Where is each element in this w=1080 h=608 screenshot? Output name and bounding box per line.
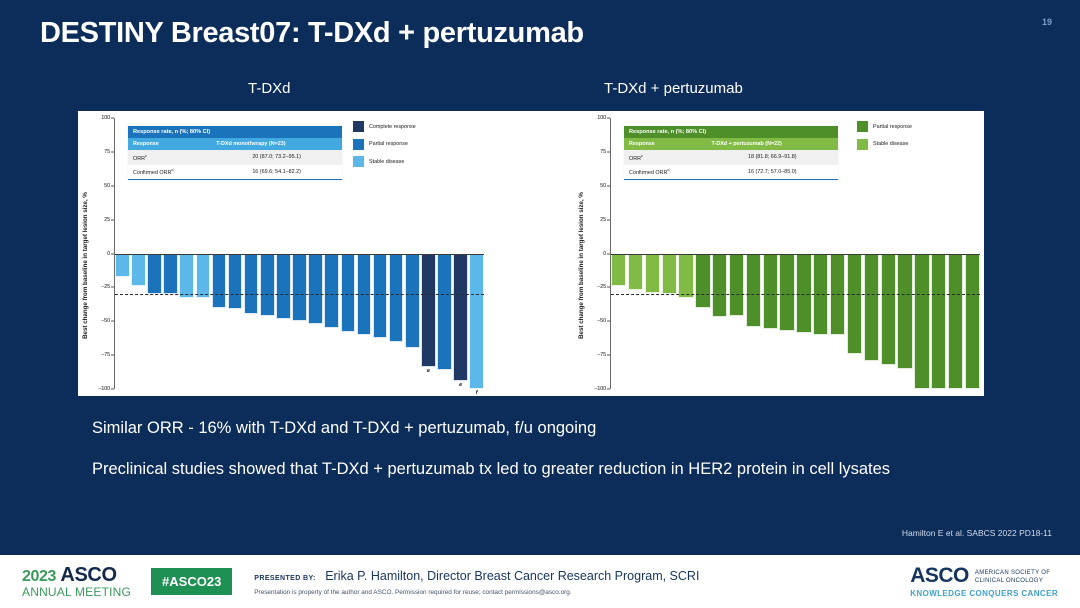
waterfall-bar xyxy=(729,254,744,316)
waterfall-bar xyxy=(965,254,980,390)
legend-left: Complete responsePartial responseStable … xyxy=(353,121,416,167)
waterfall-bar xyxy=(763,254,778,330)
table-col-arm-right: T-DXd + pertuzumab (N=22) xyxy=(707,138,838,150)
slide-footer: 2023 ASCO ANNUAL MEETING #ASCO23 Present… xyxy=(0,555,1080,608)
y-tick-0: 0 xyxy=(603,251,606,257)
waterfall-bar xyxy=(779,254,794,331)
presenter-line: Presented By: Erika P. Hamilton, Directo… xyxy=(254,567,910,585)
legend-item: Partial response xyxy=(353,139,416,150)
asco-brand-logo: ASCO AMERICAN SOCIETY OF CLINICAL ONCOLO… xyxy=(910,565,1058,598)
legend-item: Stable disease xyxy=(353,156,416,167)
presenter-block: Presented By: Erika P. Hamilton, Directo… xyxy=(254,567,910,596)
waterfall-bar xyxy=(847,254,862,354)
reference-line-right xyxy=(611,294,980,295)
zero-line-right xyxy=(611,254,980,256)
bar-footnote-e: e xyxy=(453,382,468,388)
asco-brand-top: ASCO AMERICAN SOCIETY OF CLINICAL ONCOLO… xyxy=(910,565,1058,586)
waterfall-figure: Best change from baseline in target lesi… xyxy=(78,111,984,396)
y-tick-0: 0 xyxy=(107,251,110,257)
bar-slot xyxy=(373,254,388,390)
table-row-value-left-0: 20 (87.0; 73.2–95.1) xyxy=(211,150,342,164)
chart-right: Best change from baseline in target lesi… xyxy=(574,111,984,396)
bar-slot xyxy=(779,254,794,390)
bar-slot xyxy=(341,254,356,390)
response-rate-table-right: Response rate, n (%; 80% CI) Response T-… xyxy=(624,126,838,180)
bar-slot xyxy=(131,254,146,390)
reference-line-left xyxy=(115,294,484,295)
y-tick--25: –25 xyxy=(597,284,606,290)
bar-slot: e xyxy=(453,254,468,390)
chart-heading-left: T-DXd xyxy=(248,80,291,97)
waterfall-bar xyxy=(115,254,130,277)
bar-slot xyxy=(179,254,194,390)
legend-label: Partial response xyxy=(369,141,408,147)
legend-swatch-icon xyxy=(353,156,364,167)
legend-swatch-icon xyxy=(353,139,364,150)
y-axis-ticks-right: 1007550250–25–50–75–100 xyxy=(588,118,610,389)
bar-slot xyxy=(847,254,862,390)
bar-group-left: eef xyxy=(115,254,484,390)
y-tick--50: –50 xyxy=(597,318,606,324)
waterfall-bar xyxy=(308,254,323,324)
y-tick--50: –50 xyxy=(101,318,110,324)
waterfall-bar xyxy=(914,254,929,390)
response-rate-table-left: Response rate, n (%; 80% CI) Response T-… xyxy=(128,126,342,180)
bar-slot xyxy=(212,254,227,390)
y-tick--25: –25 xyxy=(101,284,110,290)
waterfall-bar xyxy=(881,254,896,365)
waterfall-bar xyxy=(212,254,227,308)
meeting-subtitle: ANNUAL MEETING xyxy=(22,586,131,598)
permission-notice: Presentation is property of the author a… xyxy=(254,589,910,596)
waterfall-bar xyxy=(163,254,178,295)
legend-right: Partial responseStable disease xyxy=(857,121,912,150)
bar-slot xyxy=(712,254,727,390)
bar-slot xyxy=(196,254,211,390)
table-row-value-right-1: 16 (72.7; 57.0–85.0) xyxy=(707,165,838,179)
bar-slot xyxy=(645,254,660,390)
table-row-value-right-0: 18 (81.8; 66.9–91.8) xyxy=(707,150,838,164)
y-tick-100: 100 xyxy=(101,115,110,121)
bar-slot xyxy=(308,254,323,390)
legend-label: Partial response xyxy=(873,124,912,130)
slide-canvas: 19 DESTINY Breast07: T-DXd + pertuzumab … xyxy=(0,0,1080,555)
y-axis-title-left: Best change from baseline in target lesi… xyxy=(80,123,92,408)
waterfall-bar xyxy=(712,254,727,318)
waterfall-bar xyxy=(389,254,404,342)
page-number: 19 xyxy=(1042,17,1052,27)
y-tick-50: 50 xyxy=(600,183,606,189)
table-row-value-left-1: 16 (69.6; 54.1–82.2) xyxy=(211,165,342,179)
bar-slot xyxy=(746,254,761,390)
waterfall-bar xyxy=(179,254,194,299)
presenter-name: Erika P. Hamilton, Director Breast Cance… xyxy=(325,569,699,583)
chart-left: Best change from baseline in target lesi… xyxy=(78,111,488,396)
bar-slot xyxy=(729,254,744,390)
figure-spacer xyxy=(488,111,574,396)
asco-tagline: KNOWLEDGE CONQUERS CANCER xyxy=(910,590,1058,598)
table-bottom-rule-left xyxy=(128,179,342,180)
bar-slot: e xyxy=(421,254,436,390)
waterfall-bar xyxy=(324,254,339,329)
waterfall-bar xyxy=(405,254,420,349)
bar-slot xyxy=(163,254,178,390)
waterfall-bar xyxy=(628,254,643,291)
asco-brand-subtitle: AMERICAN SOCIETY OF CLINICAL ONCOLOGY xyxy=(975,569,1050,585)
legend-item: Stable disease xyxy=(857,139,912,150)
bar-slot xyxy=(864,254,879,390)
bar-slot xyxy=(662,254,677,390)
y-tick--75: –75 xyxy=(101,352,110,358)
bar-slot xyxy=(244,254,259,390)
waterfall-bar xyxy=(695,254,710,308)
table-row-label-left-1: Confirmed ORRd xyxy=(128,165,211,179)
bar-footnote-e: e xyxy=(421,368,436,374)
bar-slot xyxy=(115,254,130,390)
hashtag-badge: #ASCO23 xyxy=(151,568,232,595)
bar-slot xyxy=(678,254,693,390)
legend-label: Complete response xyxy=(369,124,416,130)
y-tick-100: 100 xyxy=(597,115,606,121)
table-col-arm-left: T-DXd monotherapy (N=23) xyxy=(211,138,342,150)
waterfall-bar xyxy=(645,254,660,293)
meeting-year: 2023 xyxy=(22,568,56,585)
takeaway-list: Similar ORR - 16% with T-DXd and T-DXd +… xyxy=(92,417,992,500)
bar-slot xyxy=(830,254,845,390)
waterfall-bar xyxy=(292,254,307,322)
table-row-label-right-1: Confirmed ORRd xyxy=(624,165,707,179)
page-title: DESTINY Breast07: T-DXd + pertuzumab xyxy=(40,17,584,50)
table-title-left: Response rate, n (%; 80% CI) xyxy=(128,126,342,138)
waterfall-bar xyxy=(131,254,146,287)
table-col-response-left: Response xyxy=(128,138,211,150)
presented-by-label: Presented By: xyxy=(254,575,315,582)
bar-slot xyxy=(389,254,404,390)
waterfall-bar xyxy=(864,254,879,361)
waterfall-bar xyxy=(260,254,275,316)
table-row-label-left-0: ORRc xyxy=(128,150,211,164)
waterfall-bar xyxy=(421,254,436,368)
table-title-right: Response rate, n (%; 80% CI) xyxy=(624,126,838,138)
takeaway-0: Similar ORR - 16% with T-DXd and T-DXd +… xyxy=(92,417,992,439)
waterfall-bar xyxy=(678,254,693,299)
y-axis-title-right: Best change from baseline in target lesi… xyxy=(576,123,588,408)
zero-line-left xyxy=(115,254,484,256)
bar-slot xyxy=(931,254,946,390)
citation: Hamilton E et al. SABCS 2022 PD18-11 xyxy=(902,528,1052,538)
bar-slot xyxy=(147,254,162,390)
bar-slot xyxy=(324,254,339,390)
waterfall-bar xyxy=(897,254,912,369)
bar-slot xyxy=(796,254,811,390)
bar-slot xyxy=(897,254,912,390)
bar-slot xyxy=(695,254,710,390)
bar-slot xyxy=(228,254,243,390)
bar-slot xyxy=(292,254,307,390)
bar-slot xyxy=(437,254,452,390)
legend-label: Stable disease xyxy=(369,159,404,165)
legend-swatch-icon xyxy=(857,121,868,132)
asco-wordmark: ASCO xyxy=(910,565,969,586)
bar-slot: f xyxy=(469,254,484,390)
table-row-label-right-0: ORRc xyxy=(624,150,707,164)
y-tick--75: –75 xyxy=(597,352,606,358)
bar-slot xyxy=(260,254,275,390)
waterfall-bar xyxy=(276,254,291,319)
waterfall-bar xyxy=(341,254,356,333)
legend-label: Stable disease xyxy=(873,141,908,147)
bar-group-right xyxy=(611,254,980,390)
legend-item: Partial response xyxy=(857,121,912,132)
bar-slot xyxy=(948,254,963,390)
bar-slot xyxy=(881,254,896,390)
meeting-brand: ASCO xyxy=(60,564,116,586)
waterfall-bar xyxy=(196,254,211,299)
waterfall-bar xyxy=(948,254,963,390)
waterfall-bar xyxy=(437,254,452,371)
waterfall-bar xyxy=(244,254,259,315)
asco-logo-top: 2023 ASCO xyxy=(22,565,131,585)
bar-slot xyxy=(276,254,291,390)
y-tick--100: –100 xyxy=(98,386,110,392)
legend-swatch-icon xyxy=(353,121,364,132)
waterfall-bar xyxy=(611,254,626,287)
bar-slot xyxy=(914,254,929,390)
y-tick--100: –100 xyxy=(594,386,606,392)
y-tick-75: 75 xyxy=(104,149,110,155)
legend-swatch-icon xyxy=(857,139,868,150)
bar-slot xyxy=(405,254,420,390)
y-tick-25: 25 xyxy=(104,217,110,223)
bar-slot xyxy=(628,254,643,390)
bar-footnote-f: f xyxy=(469,390,484,396)
waterfall-bar xyxy=(453,254,468,381)
waterfall-bar xyxy=(469,254,484,390)
waterfall-bar xyxy=(931,254,946,390)
waterfall-bar xyxy=(228,254,243,310)
waterfall-bar xyxy=(662,254,677,295)
chart-heading-right: T-DXd + pertuzumab xyxy=(604,80,743,97)
table-bottom-rule-right xyxy=(624,179,838,180)
waterfall-bar xyxy=(147,254,162,295)
bar-slot xyxy=(611,254,626,390)
bar-slot xyxy=(357,254,372,390)
bar-slot xyxy=(813,254,828,390)
legend-item: Complete response xyxy=(353,121,416,132)
y-tick-25: 25 xyxy=(600,217,606,223)
table-col-response-right: Response xyxy=(624,138,707,150)
waterfall-bar xyxy=(373,254,388,338)
y-tick-50: 50 xyxy=(104,183,110,189)
y-axis-ticks-left: 1007550250–25–50–75–100 xyxy=(92,118,114,389)
takeaway-1: Preclinical studies showed that T-DXd + … xyxy=(92,458,992,480)
bar-slot xyxy=(965,254,980,390)
asco-annual-meeting-logo: 2023 ASCO ANNUAL MEETING xyxy=(22,565,131,598)
bar-slot xyxy=(763,254,778,390)
waterfall-bar xyxy=(746,254,761,327)
y-tick-75: 75 xyxy=(600,149,606,155)
